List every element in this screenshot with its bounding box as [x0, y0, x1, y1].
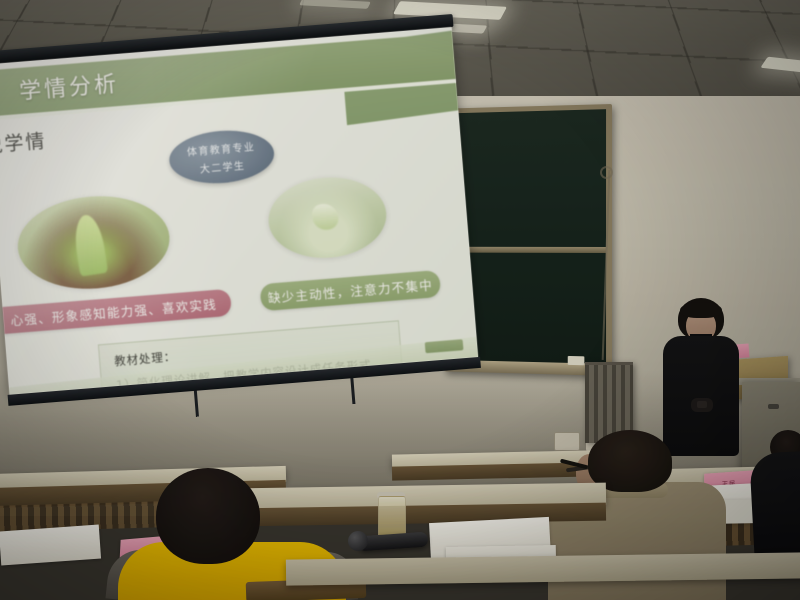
microphone [358, 532, 429, 552]
yellow-student-hair [156, 468, 260, 564]
blackboard-panel-divider [449, 247, 606, 253]
audience-member-black [749, 450, 800, 564]
presentation-slide: 学情分析 说学情 体育教育专业 大二学生 心强、形象感知能力强、喜欢实践 缺少主… [0, 27, 478, 395]
document-stack [0, 525, 101, 566]
eraser [568, 356, 585, 365]
strengths-banner: 心强、形象感知能力强、喜欢实践 [0, 289, 232, 340]
projector-screen: 学情分析 说学情 体育教育专业 大二学生 心强、形象感知能力强、喜欢实践 缺少主… [0, 15, 467, 411]
strengths-banner-text: 心强、形象感知能力强、喜欢实践 [10, 294, 218, 330]
cabinet-handle [768, 404, 779, 409]
presenter-fringe [680, 302, 722, 318]
slide-subtitle: 说学情 [0, 126, 47, 158]
seedling-photo-right [265, 173, 389, 262]
weaknesses-banner-text: 缺少主动性，注意力不集中 [267, 274, 434, 306]
oval-line-2: 大二学生 [199, 157, 246, 176]
note-title: 教材处理： [114, 348, 177, 369]
presentation-clicker [697, 401, 707, 408]
oval-line-1: 体育教育专业 [186, 138, 255, 158]
seedling-photo-left [14, 191, 173, 295]
weaknesses-banner: 缺少主动性，注意力不集中 [260, 270, 442, 311]
student-profile-oval: 体育教育专业 大二学生 [167, 127, 276, 187]
classroom-photo-scene: 学情分析 说学情 体育教育专业 大二学生 心强、形象感知能力强、喜欢实践 缺少主… [0, 0, 800, 600]
wall-hook [600, 166, 613, 179]
